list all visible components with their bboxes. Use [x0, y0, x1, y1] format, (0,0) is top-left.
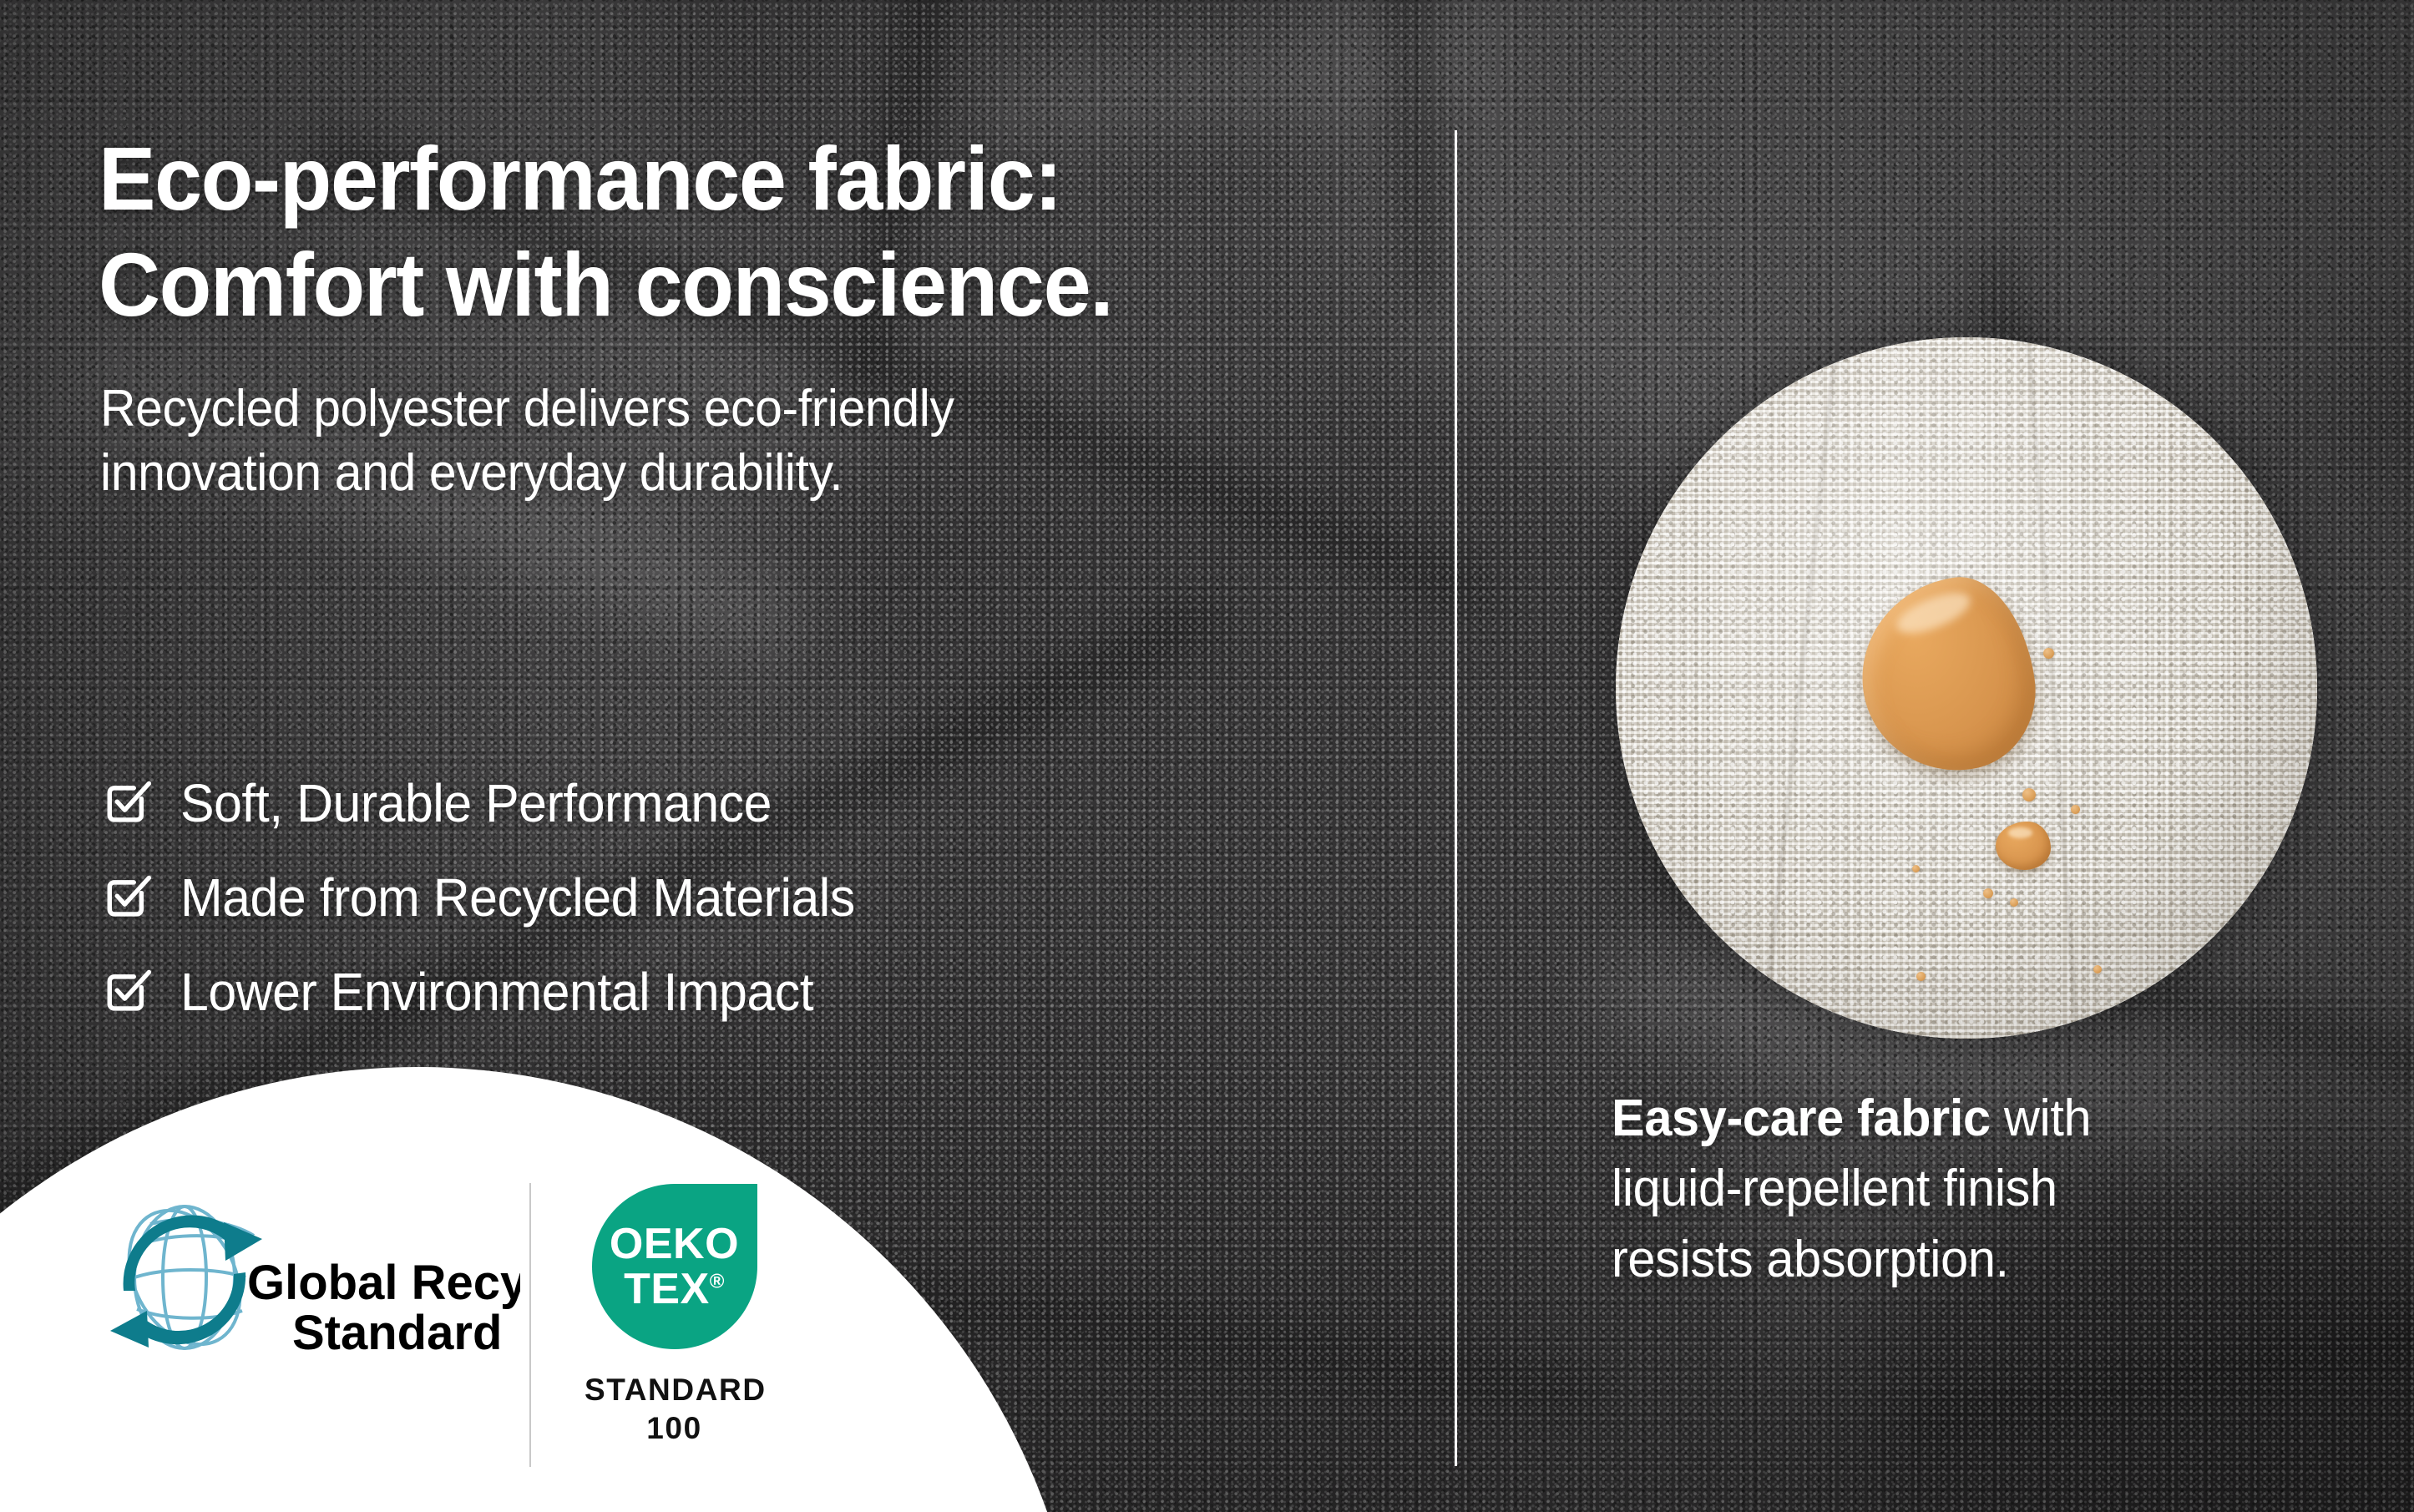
grs-label-line-2: Standard [292, 1306, 502, 1360]
liquid-micro-droplet [1912, 865, 1920, 872]
oeko-line-1: OEKO [610, 1221, 739, 1267]
subheading-line-1: Recycled polyester delivers eco-friendly [100, 380, 954, 437]
checkbox-checked-icon [104, 873, 152, 922]
feature-label: Lower Environmental Impact [180, 961, 813, 1023]
headline-line-1: Eco-performance fabric: [99, 128, 1061, 229]
caption-line-3: resists absorption. [1612, 1225, 2357, 1295]
list-item: Made from Recycled Materials [104, 867, 890, 928]
global-recycled-standard-logo: Global Recycled Standard [99, 1184, 520, 1376]
oeko-tex-droplet-icon: OEKO TEX® [592, 1184, 757, 1349]
headline-line-2: Comfort with conscience. [99, 231, 1112, 337]
right-caption: Easy-care fabric with liquid-repellent f… [1612, 1084, 2357, 1295]
caption-bold-phrase: Easy-care fabric [1612, 1090, 1991, 1147]
subheading-line-2: innovation and everyday durability. [100, 442, 954, 506]
grs-label-line-1: Global Recycled [247, 1256, 520, 1310]
oeko-tex-badge: OEKO TEX® STANDARD 100 [585, 1184, 764, 1449]
right-content-column: Easy-care fabric with liquid-repellent f… [1612, 0, 2413, 1512]
column-divider [1455, 130, 1457, 1466]
list-item: Soft, Durable Performance [104, 772, 890, 834]
caption-line-1-rest: with [1991, 1090, 2091, 1147]
promo-banner: Eco-performance fabric: Comfort with con… [0, 0, 2414, 1512]
list-item: Lower Environmental Impact [104, 961, 890, 1023]
liquid-micro-droplet [2043, 648, 2054, 659]
liquid-micro-droplet [2010, 898, 2018, 907]
liquid-micro-droplet [2071, 805, 2080, 814]
liquid-micro-droplet [1916, 972, 1926, 981]
page-title: Eco-performance fabric: Comfort with con… [99, 125, 1112, 338]
badge-divider [529, 1183, 531, 1467]
oeko-line-2: TEX [624, 1265, 710, 1313]
oeko-sub-line-2: 100 [585, 1409, 764, 1448]
feature-label: Made from Recycled Materials [180, 867, 855, 928]
feature-label: Soft, Durable Performance [180, 772, 772, 834]
liquid-micro-droplet [2022, 788, 2036, 802]
liquid-micro-droplet [1983, 888, 1993, 898]
caption-line-2: liquid-repellent finish [1612, 1154, 2357, 1224]
subheading: Recycled polyester delivers eco-friendly… [100, 377, 954, 506]
fabric-liquid-repellency-photo [1616, 337, 2317, 1039]
checkbox-checked-icon [104, 968, 152, 1016]
feature-list: Soft, Durable Performance Made from Recy… [104, 772, 890, 1023]
liquid-droplet-small [1996, 822, 2051, 870]
registered-mark-icon: ® [710, 1271, 725, 1293]
checkbox-checked-icon [104, 779, 152, 827]
oeko-sub-line-1: STANDARD [585, 1371, 764, 1409]
liquid-micro-droplet [2093, 965, 2102, 973]
